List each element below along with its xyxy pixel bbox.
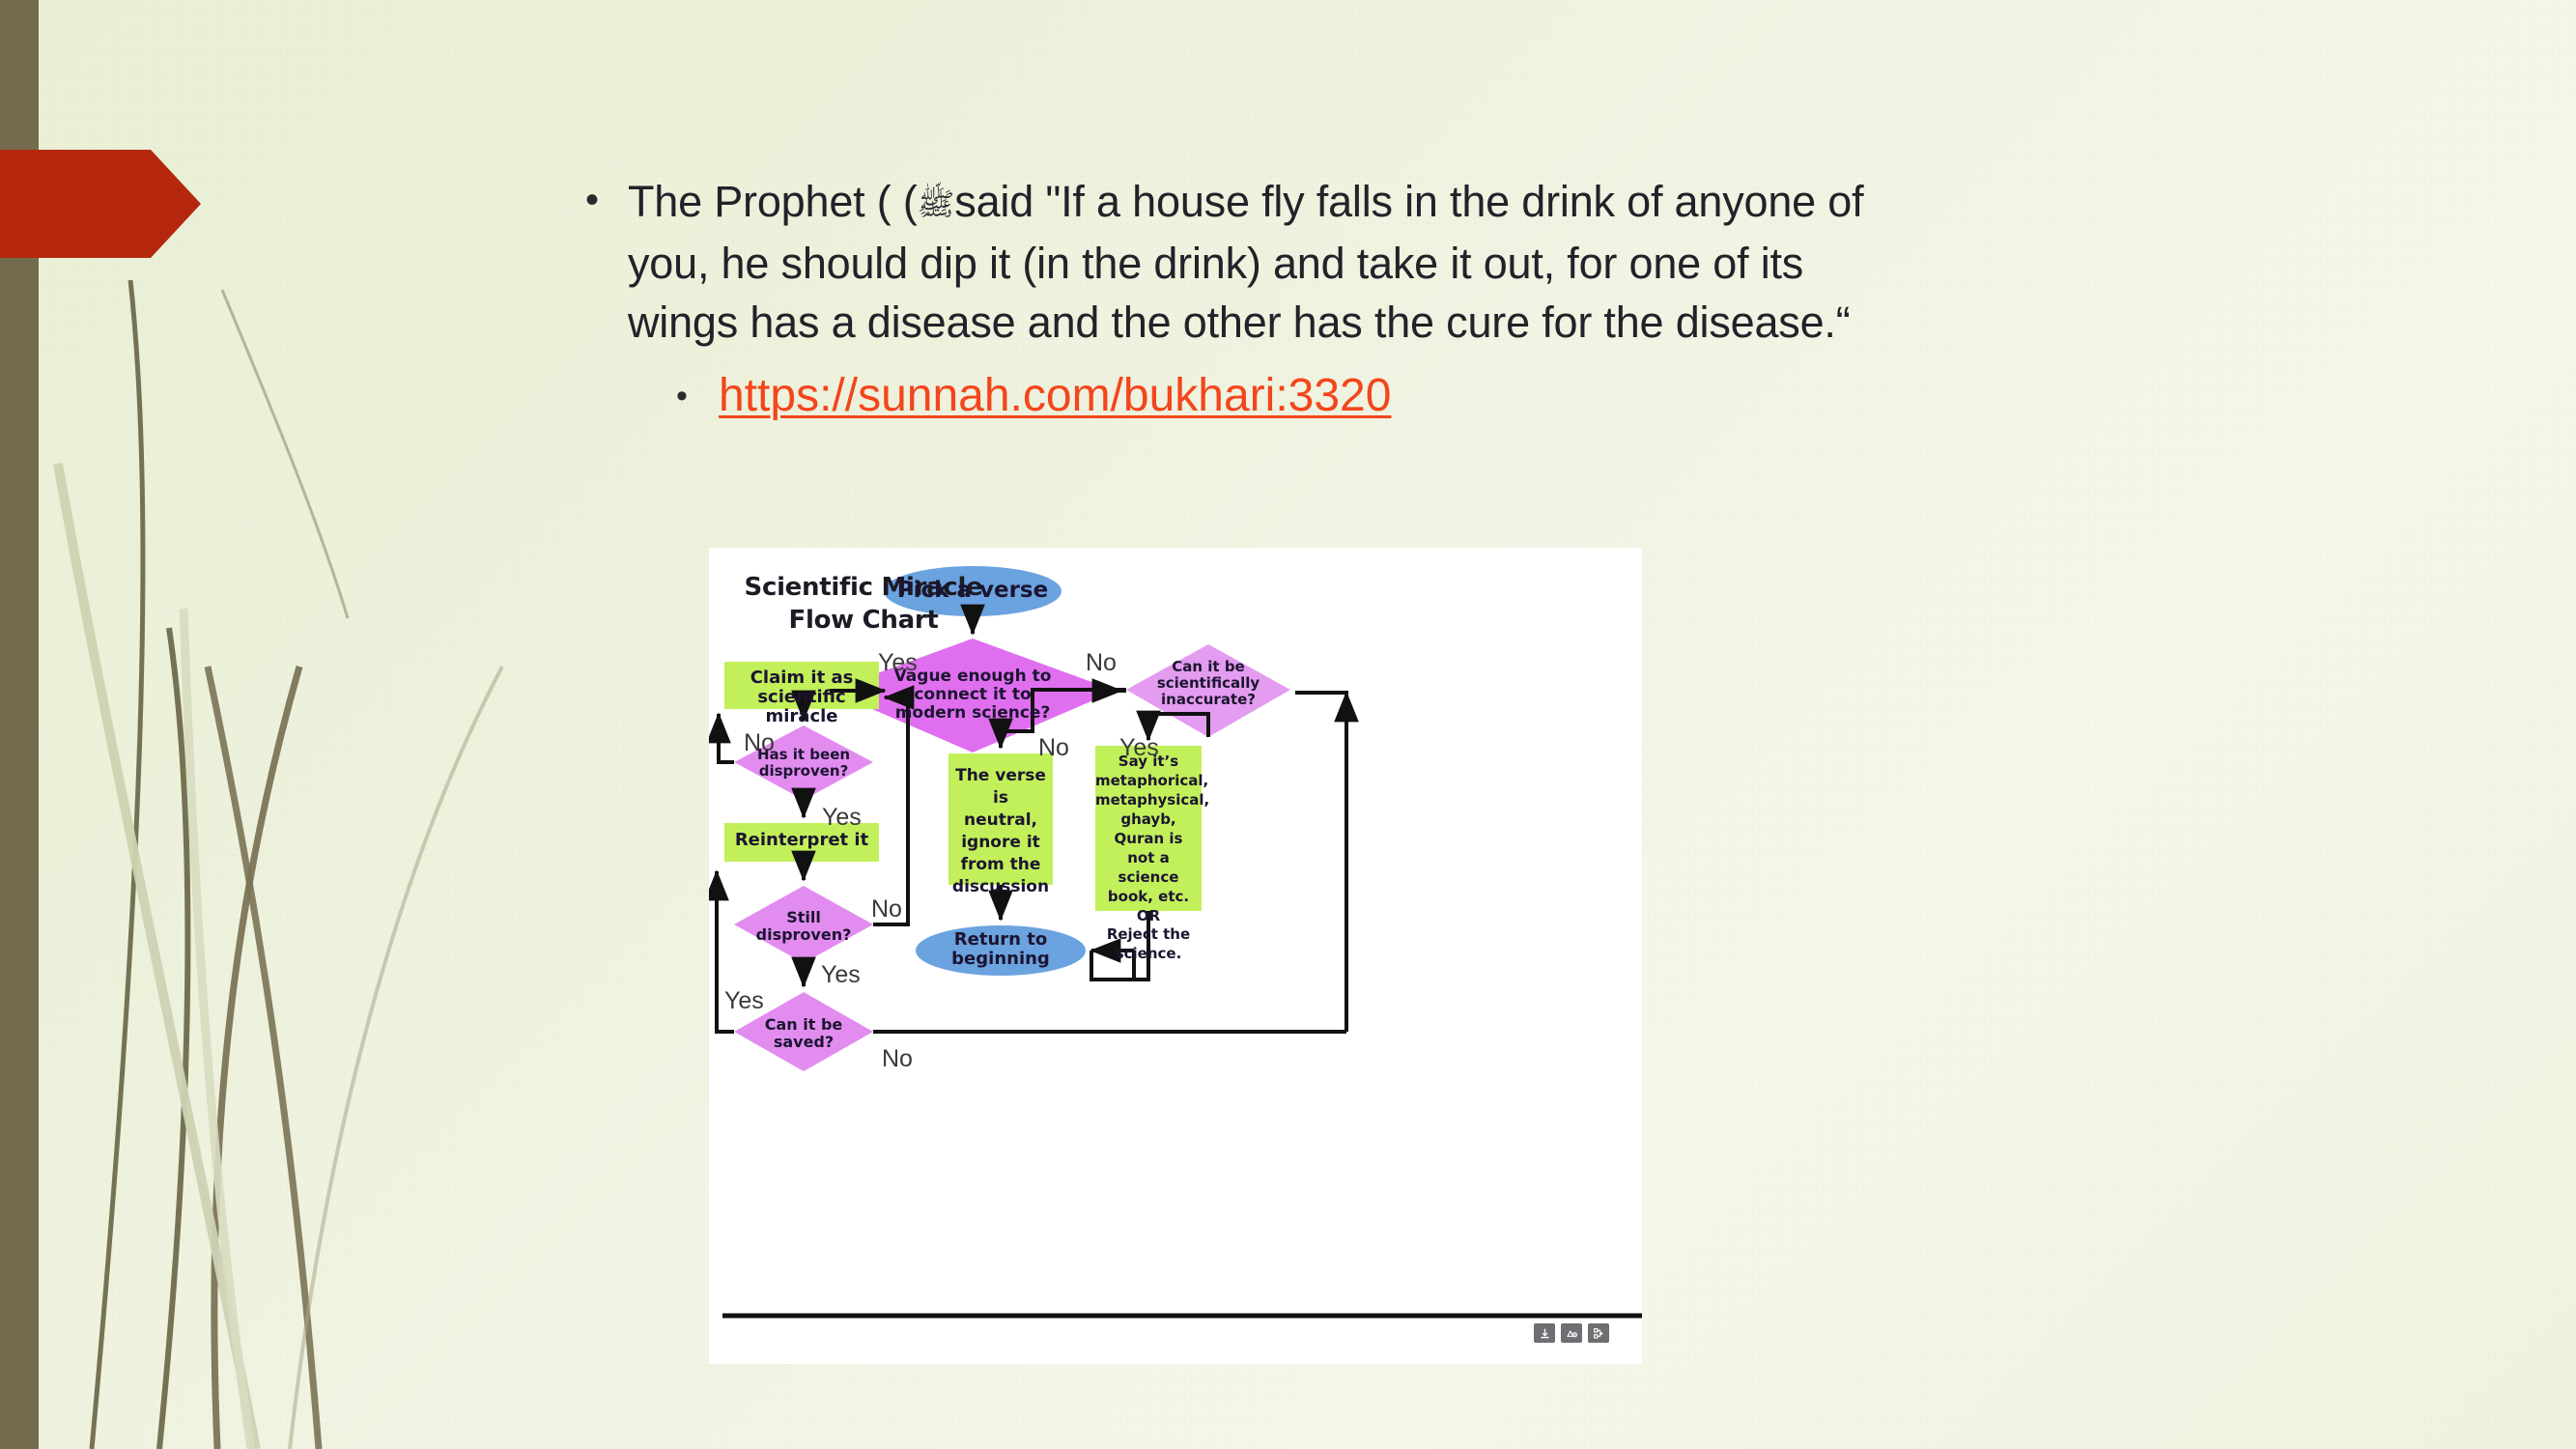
edge-disproven-no-loop: [719, 714, 734, 762]
download-icon[interactable]: [1534, 1323, 1555, 1343]
edge-still-no-loop: [873, 697, 908, 924]
slide-text-block: • The Prophet ( (ﷺsaid "If a house fly f…: [580, 172, 1874, 427]
hadith-paragraph: The Prophet ( (ﷺsaid "If a house fly fal…: [628, 172, 1874, 352]
hadith-text-before: The Prophet ( (: [628, 177, 918, 226]
node-claim-shape: [724, 662, 879, 709]
node-disproven-shape: [734, 725, 873, 800]
edge-saved-yes-loop: [717, 871, 734, 1032]
flowchart-title-line1: Scientific Miracle: [738, 571, 989, 604]
flowchart-title-line2: Flow Chart: [738, 604, 989, 637]
save-to-photos-icon[interactable]: [1561, 1323, 1582, 1343]
node-metaphor-shape: [1095, 746, 1202, 911]
list-item: • The Prophet ( (ﷺsaid "If a house fly f…: [580, 172, 1874, 352]
presentation-slide: • The Prophet ( (ﷺsaid "If a house fly f…: [0, 0, 2576, 1449]
node-reinterpret-shape: [724, 823, 879, 862]
node-neutral-shape: [948, 753, 1053, 885]
arrow-banner: [0, 150, 201, 258]
bullet-marker-icon: •: [580, 172, 628, 228]
edge-right-riser: [1295, 693, 1346, 1032]
flowchart-graphics: [709, 548, 1642, 1364]
flowchart-title: Scientific Miracle Flow Chart: [738, 571, 989, 637]
share-icon[interactable]: [1588, 1323, 1609, 1343]
image-tools-toolbar[interactable]: [1534, 1323, 1609, 1343]
edge-metaphor-to-return: [1091, 911, 1148, 980]
sunnah-link[interactable]: https://sunnah.com/bukhari:3320: [719, 365, 1391, 427]
sallallahu-alayhi-wasallam-glyph: ﷺ: [918, 185, 955, 222]
node-saved-shape: [734, 992, 873, 1071]
bullet-marker-icon: •: [676, 365, 719, 427]
list-item: • https://sunnah.com/bukhari:3320: [676, 365, 1874, 427]
flowchart-image[interactable]: Scientific Miracle Flow Chart Pick a ver…: [709, 548, 1642, 1364]
bullet-list-level2: • https://sunnah.com/bukhari:3320: [580, 365, 1874, 427]
node-return-shape: [916, 925, 1086, 976]
node-still-shape: [734, 886, 873, 963]
bullet-list-level1: • The Prophet ( (ﷺsaid "If a house fly f…: [580, 172, 1874, 427]
